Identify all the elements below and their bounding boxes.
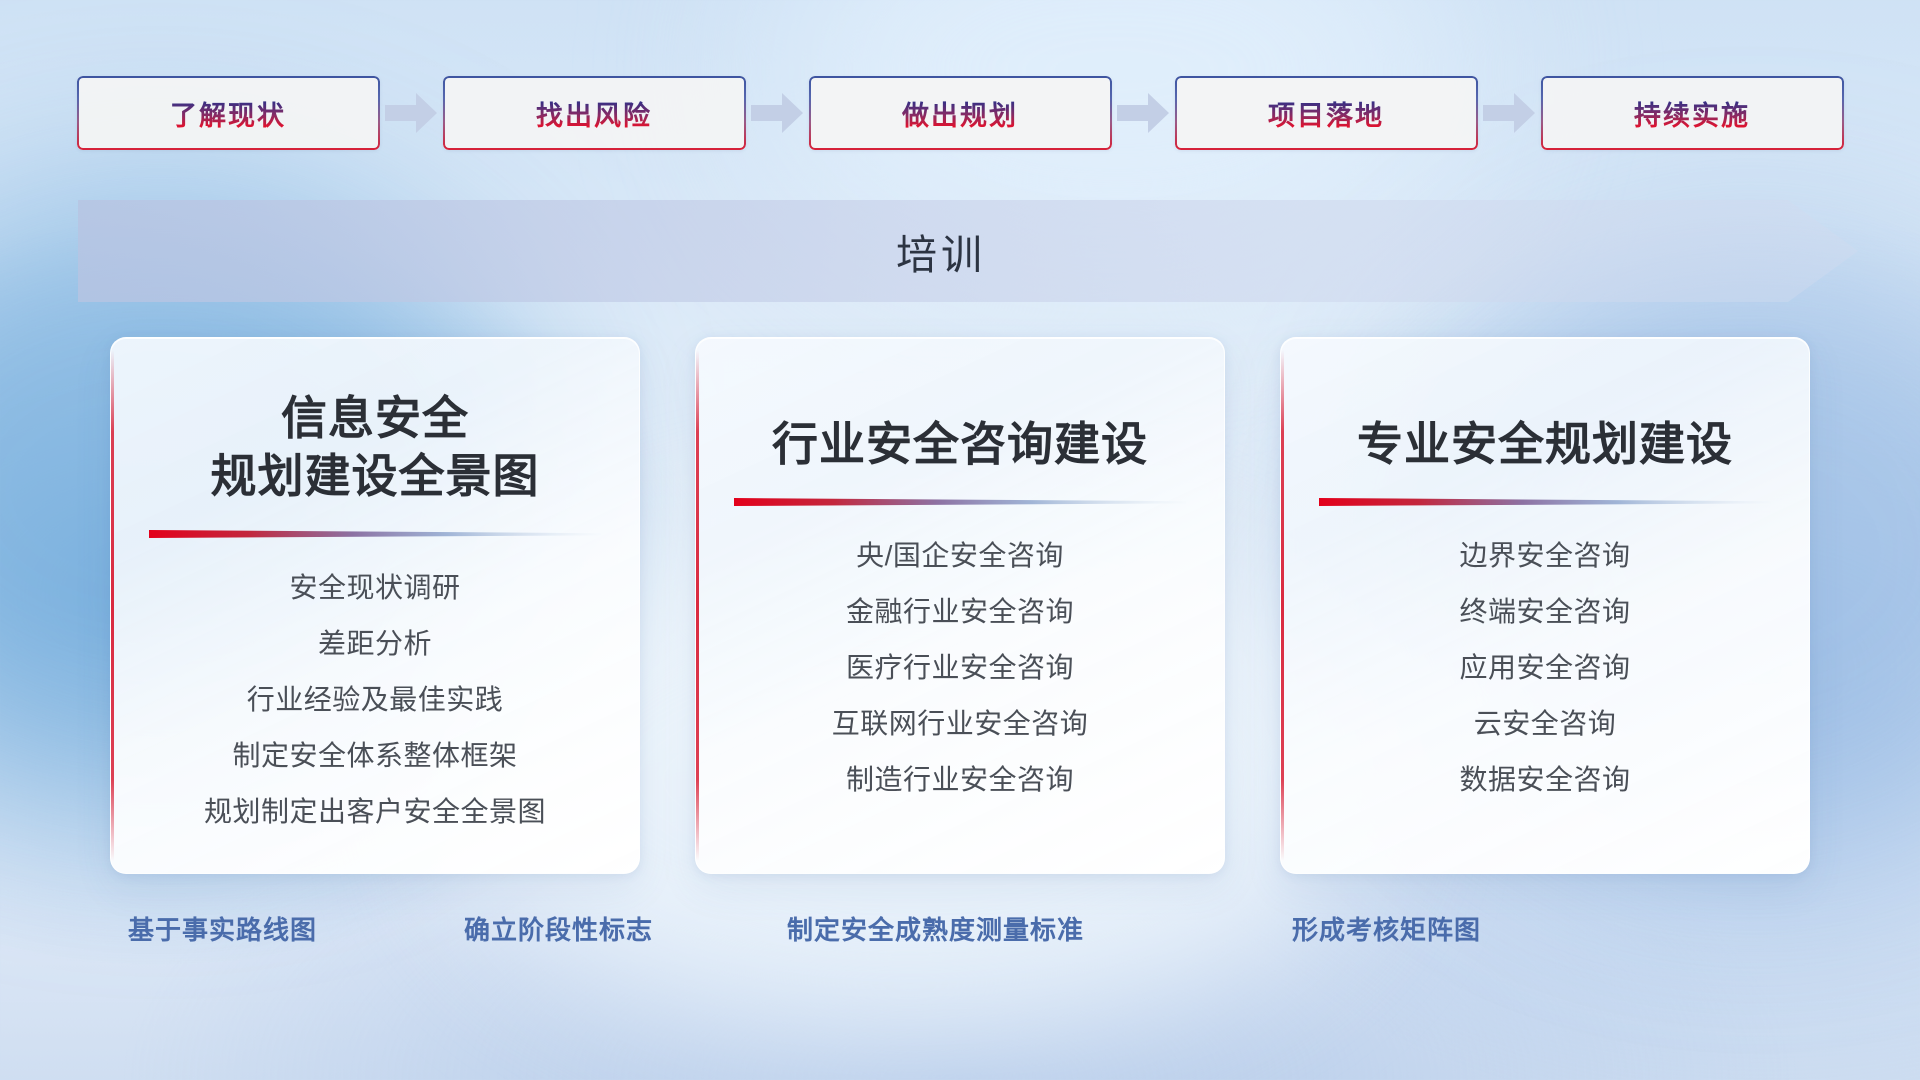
step-label-4: 项目落地 xyxy=(1268,94,1384,133)
card-list-1: 安全现状调研 差距分析 行业经验及最佳实践 制定安全体系整体框架 规划制定出客户… xyxy=(204,562,546,837)
list-item: 行业经验及最佳实践 xyxy=(247,674,504,725)
card-title-2: 行业安全咨询建设 xyxy=(772,416,1148,474)
card-list-3: 边界安全咨询 终端安全咨询 应用安全咨询 云安全咨询 数据安全咨询 xyxy=(1459,530,1630,805)
list-item: 央/国企安全咨询 xyxy=(856,530,1064,581)
footer-label-3: 制定安全成熟度测量标准 xyxy=(787,910,1084,947)
step-box-5[interactable]: 持续实施 xyxy=(1541,76,1844,150)
step-box-4[interactable]: 项目落地 xyxy=(1175,76,1478,150)
card-title-1: 信息安全 规划建设全景图 xyxy=(211,390,540,506)
list-item: 规划制定出客户安全全景图 xyxy=(204,786,546,837)
step-box-3[interactable]: 做出规划 xyxy=(809,76,1112,150)
step-box-1[interactable]: 了解现状 xyxy=(77,76,380,150)
banner-title: 培训 xyxy=(78,200,1858,302)
gradient-divider-icon xyxy=(149,528,601,540)
list-item: 制造行业安全咨询 xyxy=(846,754,1074,805)
arrow-right-icon xyxy=(1112,76,1175,150)
step-label-1: 了解现状 xyxy=(170,94,286,133)
card-wrap-3: 专业安全规划建设 xyxy=(1280,337,1810,874)
card-3[interactable]: 专业安全规划建设 xyxy=(1280,337,1810,874)
arrow-right-icon xyxy=(380,76,443,150)
card-group: 信息安全 规划建设全景图 xyxy=(0,337,1920,874)
list-item: 金融行业安全咨询 xyxy=(846,586,1074,637)
gradient-divider-icon xyxy=(734,496,1186,508)
footer-label-row: 基于事实路线图 确立阶段性标志 制定安全成熟度测量标准 形成考核矩阵图 xyxy=(0,910,1920,970)
step-box-2[interactable]: 找出风险 xyxy=(443,76,746,150)
arrow-right-icon xyxy=(1478,76,1541,150)
gradient-divider-icon xyxy=(1319,496,1771,508)
list-item: 终端安全咨询 xyxy=(1459,586,1630,637)
list-item: 应用安全咨询 xyxy=(1459,642,1630,693)
arrow-right-icon xyxy=(746,76,809,150)
card-wrap-2: 行业安全咨询建设 xyxy=(695,337,1225,874)
card-2[interactable]: 行业安全咨询建设 xyxy=(695,337,1225,874)
card-1[interactable]: 信息安全 规划建设全景图 xyxy=(110,337,640,874)
list-item: 互联网行业安全咨询 xyxy=(832,698,1089,749)
list-item: 安全现状调研 xyxy=(289,562,460,613)
card-wrap-1: 信息安全 规划建设全景图 xyxy=(110,337,640,874)
step-label-3: 做出规划 xyxy=(902,94,1018,133)
list-item: 医疗行业安全咨询 xyxy=(846,642,1074,693)
footer-label-2: 确立阶段性标志 xyxy=(464,910,653,947)
footer-label-4: 形成考核矩阵图 xyxy=(1292,910,1481,947)
step-label-5: 持续实施 xyxy=(1634,94,1750,133)
step-flow: 了解现状 找出风险 做出规划 项目落地 持续实施 xyxy=(0,76,1920,150)
step-label-2: 找出风险 xyxy=(536,94,652,133)
list-item: 差距分析 xyxy=(318,618,432,669)
card-list-2: 央/国企安全咨询 金融行业安全咨询 医疗行业安全咨询 互联网行业安全咨询 制造行… xyxy=(832,530,1089,805)
list-item: 制定安全体系整体框架 xyxy=(232,730,517,781)
card-title-3: 专业安全规划建设 xyxy=(1357,416,1733,474)
list-item: 云安全咨询 xyxy=(1474,698,1617,749)
list-item: 边界安全咨询 xyxy=(1459,530,1630,581)
training-banner: 培训 xyxy=(78,200,1858,302)
footer-label-1: 基于事实路线图 xyxy=(128,910,317,947)
list-item: 数据安全咨询 xyxy=(1459,754,1630,805)
